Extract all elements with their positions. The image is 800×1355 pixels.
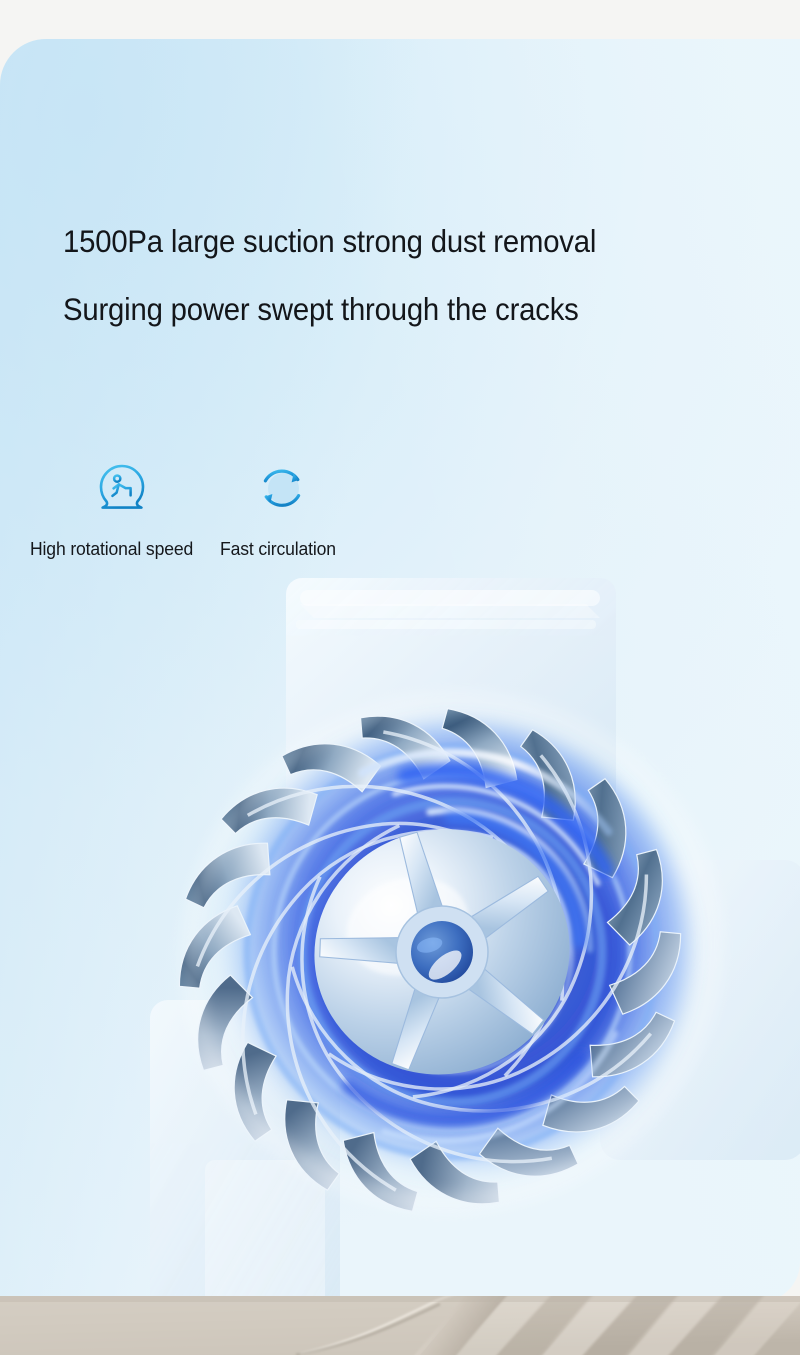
product-feature-page: 1500Pa large suction strong dust removal… xyxy=(0,0,800,1355)
circular-arrows-refresh-icon xyxy=(252,462,312,516)
feature-label-high-rotational-speed: High rotational speed xyxy=(30,529,193,569)
running-figure-dome-icon xyxy=(92,462,152,516)
turbine-artwork xyxy=(0,560,800,1350)
feature-label-fast-circulation: Fast circulation xyxy=(220,529,336,569)
bed-sheet-fabric xyxy=(0,1296,800,1355)
headline-line-1: 1500Pa large suction strong dust removal xyxy=(63,207,596,275)
headline-block: 1500Pa large suction strong dust removal… xyxy=(63,207,636,343)
feature-list: High rotational speed xyxy=(30,462,420,569)
feature-high-rotational-speed: High rotational speed xyxy=(30,462,220,569)
top-margin-strip xyxy=(0,0,800,39)
feature-fast-circulation: Fast circulation xyxy=(220,462,420,569)
headline-line-2: Surging power swept through the cracks xyxy=(63,275,596,343)
